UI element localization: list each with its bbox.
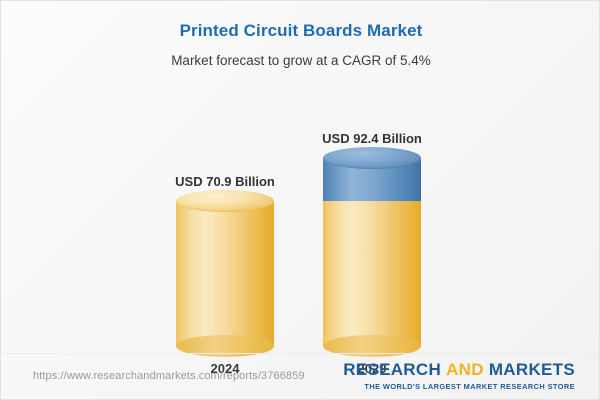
cylinder-segment-base <box>323 201 421 346</box>
cylinder-2029 <box>323 158 421 346</box>
bar-group-2024[interactable]: USD 70.9 Billion 2024 <box>176 201 274 346</box>
cylinder-2024 <box>176 201 274 346</box>
logo-tagline: THE WORLD'S LARGEST MARKET RESEARCH STOR… <box>343 382 575 391</box>
report-url[interactable]: https://www.researchandmarkets.com/repor… <box>33 370 305 382</box>
bar-value-label-2024: USD 70.9 Billion <box>175 174 275 189</box>
chart-card: Printed Circuit Boards Market Market for… <box>0 0 600 400</box>
logo-word-and: AND <box>446 360 484 379</box>
logo-word-research: RESEARCH <box>343 360 441 379</box>
brand-logo[interactable]: RESEARCH AND MARKETS THE WORLD'S LARGEST… <box>343 361 575 391</box>
segment-top-ellipse <box>176 190 274 212</box>
segment-body <box>323 201 421 346</box>
bar-group-2029[interactable]: USD 92.4 Billion 2029 <box>323 158 421 346</box>
chart-plot-area: USD 70.9 Billion 2024 USD 92.4 Billion <box>1 1 600 346</box>
cylinder-segment-base <box>176 201 274 346</box>
logo-word-markets: MARKETS <box>489 360 575 379</box>
segment-top-ellipse <box>323 147 421 169</box>
footer-divider <box>2 353 600 354</box>
logo-wordmark: RESEARCH AND MARKETS <box>343 361 575 378</box>
cylinder-segment-growth <box>323 158 421 201</box>
bar-value-label-2029: USD 92.4 Billion <box>322 131 422 146</box>
segment-body <box>176 201 274 346</box>
